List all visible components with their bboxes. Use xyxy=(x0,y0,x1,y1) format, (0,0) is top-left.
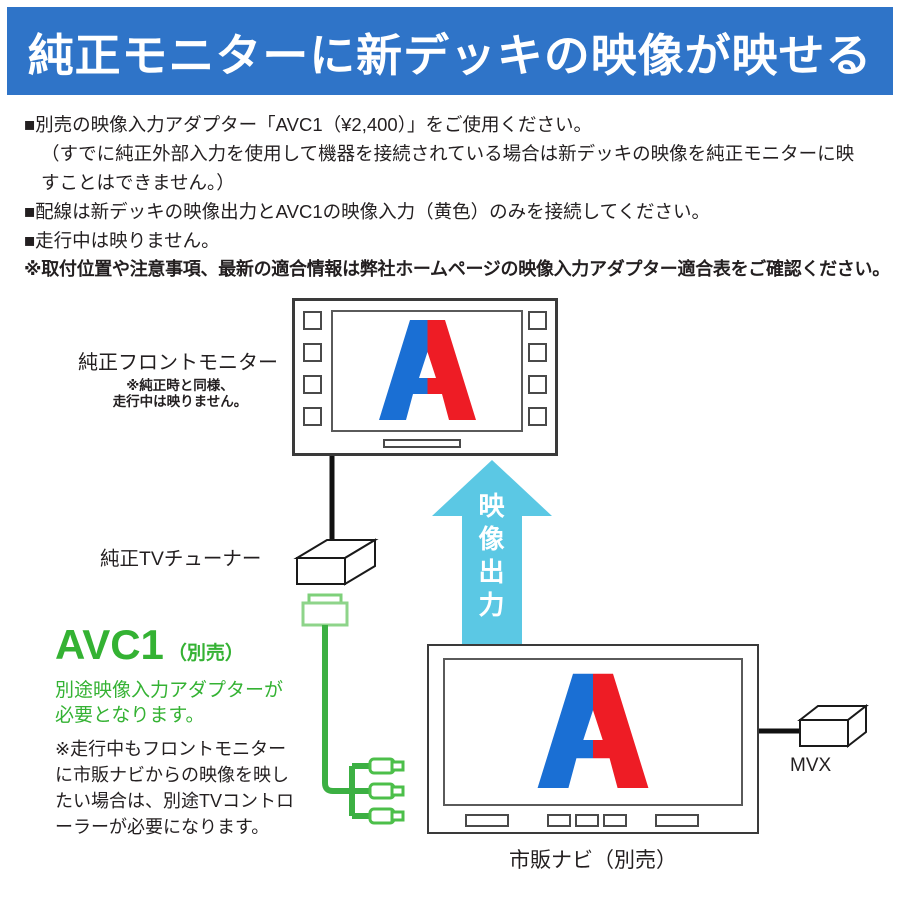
avc1-title-row: AVC1 （別売） xyxy=(55,623,330,676)
avc1-note: ※走行中もフロントモニター に市販ナビからの映像を映し たい場合は、別途TVコン… xyxy=(55,736,330,840)
monitor-side-button-l3[interactable] xyxy=(303,375,322,394)
video-output-label: 映 像 出 力 xyxy=(432,490,552,622)
arrow-char-2: 像 xyxy=(432,523,552,556)
front-monitor-label: 純正フロントモニター xyxy=(78,346,288,375)
nav-button-1[interactable] xyxy=(465,814,509,827)
mvx-box-icon xyxy=(800,706,866,746)
rca-plug-3 xyxy=(370,809,403,823)
avc1-info-block: AVC1 （別売） 別途映像入力アダプターが 必要となります。 ※走行中もフロン… xyxy=(55,623,330,840)
avc1-description-line-1: 別途映像入力アダプターが xyxy=(55,678,330,703)
front-monitor-sublabel-2: 走行中は映りません。 xyxy=(78,394,282,410)
nav-unit-screen xyxy=(443,658,743,806)
rca-plug-1 xyxy=(370,759,403,773)
monitor-side-button-r2[interactable] xyxy=(528,343,547,362)
note-line-2: （すでに純正外部入力を使用して機器を接続されている場合は新デッキの映像を純正モニ… xyxy=(24,139,884,168)
avc1-connector-icon xyxy=(303,595,347,625)
avc1-title-suffix: （別売） xyxy=(168,632,244,676)
monitor-side-button-r3[interactable] xyxy=(528,375,547,394)
arrow-char-3: 出 xyxy=(432,556,552,589)
tuner-box-icon xyxy=(297,540,375,584)
note-line-5: ■走行中は映りません。 xyxy=(24,226,884,255)
page-root: 純正モニターに新デッキの映像が映せる ■別売の映像入力アダプター「AVC1（¥2… xyxy=(0,0,900,900)
nav-button-3[interactable] xyxy=(575,814,599,827)
monitor-side-button-l4[interactable] xyxy=(303,407,322,426)
note-line-4: ■配線は新デッキの映像出力とAVC1の映像入力（黄色）のみを接続してください。 xyxy=(24,197,884,226)
rca-plug-2 xyxy=(370,784,403,798)
nav-button-2[interactable] xyxy=(547,814,571,827)
arrow-char-4: 力 xyxy=(432,589,552,622)
avc1-note-line-3: たい場合は、別途TVコントロ xyxy=(55,788,330,814)
a-logo-icon xyxy=(533,669,653,795)
monitor-side-button-l1[interactable] xyxy=(303,311,322,330)
a-logo-icon xyxy=(375,316,480,426)
note-line-1: ■別売の映像入力アダプター「AVC1（¥2,400）」をご使用ください。 xyxy=(24,110,884,139)
nav-button-4[interactable] xyxy=(603,814,627,827)
front-monitor-screen xyxy=(331,310,523,432)
front-monitor xyxy=(292,298,558,456)
avc1-note-line-2: に市販ナビからの映像を映し xyxy=(55,762,330,788)
monitor-side-button-l2[interactable] xyxy=(303,343,322,362)
wiring-diagram: 映 像 出 力 xyxy=(0,288,900,900)
mvx-label: MVX xyxy=(790,755,831,777)
header-banner: 純正モニターに新デッキの映像が映せる xyxy=(7,7,893,95)
front-monitor-sublabel-1: ※純正時と同様、 xyxy=(78,378,282,394)
avc1-title: AVC1 xyxy=(55,623,164,667)
tuner-label: 純正TVチューナー xyxy=(100,542,261,571)
monitor-bottom-bar xyxy=(383,439,461,448)
arrow-char-1: 映 xyxy=(432,490,552,523)
avc1-note-line-1: ※走行中もフロントモニター xyxy=(55,736,330,762)
front-monitor-label-group: 純正フロントモニター ※純正時と同様、 走行中は映りません。 xyxy=(78,346,288,410)
avc1-description-line-2: 必要となります。 xyxy=(55,703,330,728)
video-output-arrow-label-wrap: 映 像 出 力 xyxy=(432,460,552,652)
monitor-side-button-r4[interactable] xyxy=(528,407,547,426)
avc1-description: 別途映像入力アダプターが 必要となります。 xyxy=(55,678,330,728)
note-line-3: すことはできません。） xyxy=(24,168,884,197)
nav-unit xyxy=(427,644,759,834)
notes-block: ■別売の映像入力アダプター「AVC1（¥2,400）」をご使用ください。 （すで… xyxy=(24,110,884,284)
page-title: 純正モニターに新デッキの映像が映せる xyxy=(28,19,873,84)
avc1-note-line-4: ーラーが必要になります。 xyxy=(55,814,330,840)
monitor-side-button-r1[interactable] xyxy=(528,311,547,330)
note-line-6: ※取付位置や注意事項、最新の適合情報は弊社ホームページの映像入力アダプター適合表… xyxy=(24,255,884,284)
nav-unit-label: 市販ナビ（別売） xyxy=(427,844,759,874)
nav-button-5[interactable] xyxy=(655,814,699,827)
